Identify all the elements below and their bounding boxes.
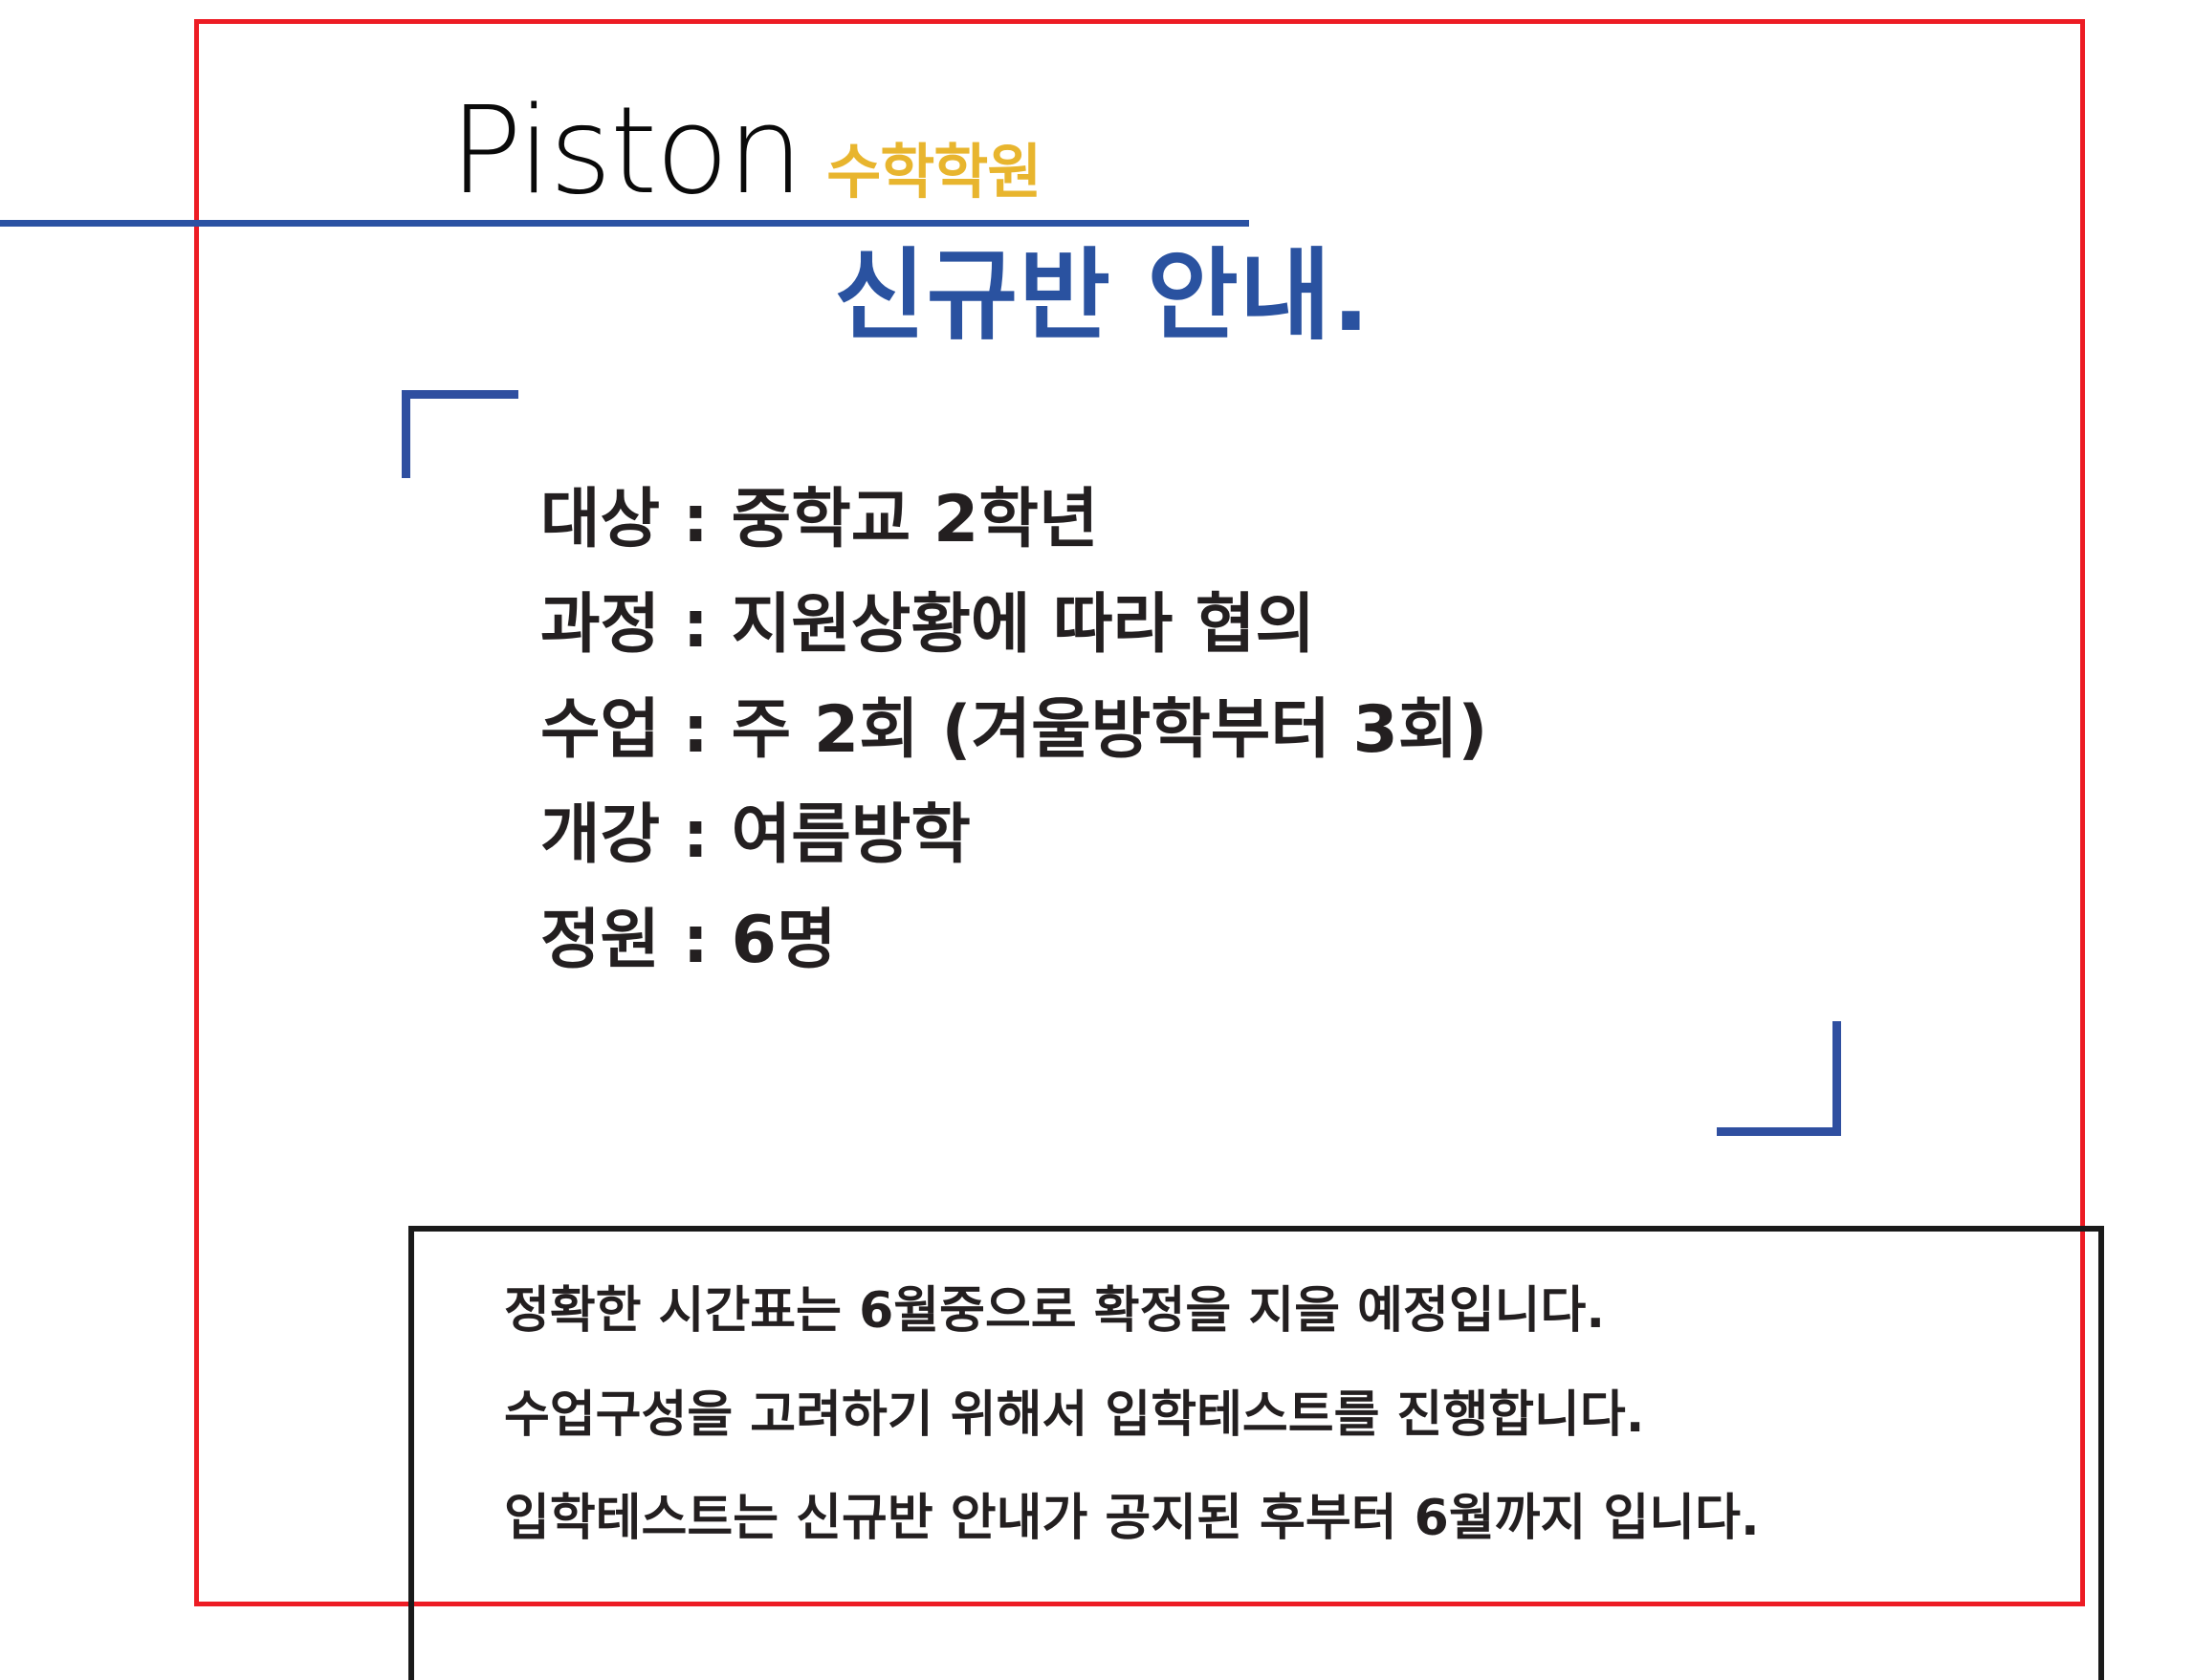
blue-underline-rule: [0, 220, 1249, 227]
class-detail-list: 대상 : 중학교 2학년 과정 : 지원상황에 따라 협의 수업 : 주 2회 …: [540, 478, 1488, 1004]
brand-subtitle: 수학학원: [826, 142, 1041, 202]
brand-logo: Piston 수학학원: [450, 91, 1041, 211]
corner-bracket-top-left: [402, 390, 518, 478]
page-title: 신규반 안내.: [834, 241, 1371, 350]
list-item: 정확한 시간표는 6월중으로 확정을 지을 예정입니다.: [504, 1279, 1760, 1344]
list-item: 대상 : 중학교 2학년: [540, 478, 1488, 561]
list-item: 정원 : 6명: [540, 899, 1488, 982]
list-item: 수업구성을 고려하기 위해서 입학테스트를 진행합니다.: [504, 1384, 1760, 1449]
poster-canvas: Piston 수학학원 신규반 안내. 대상 : 중학교 2학년 과정 : 지원…: [0, 0, 2194, 1680]
notice-text-list: 정확한 시간표는 6월중으로 확정을 지을 예정입니다. 수업구성을 고려하기 …: [504, 1279, 1760, 1591]
list-item: 입학테스트는 신규반 안내가 공지된 후부터 6월까지 입니다.: [504, 1487, 1760, 1552]
corner-bracket-bottom-right: [1717, 1021, 1841, 1136]
list-item: 과정 : 지원상황에 따라 협의: [540, 583, 1488, 666]
brand-wordmark: Piston: [450, 91, 801, 211]
list-item: 수업 : 주 2회 (겨울방학부터 3회): [540, 688, 1488, 772]
list-item: 개강 : 여름방학: [540, 794, 1488, 877]
